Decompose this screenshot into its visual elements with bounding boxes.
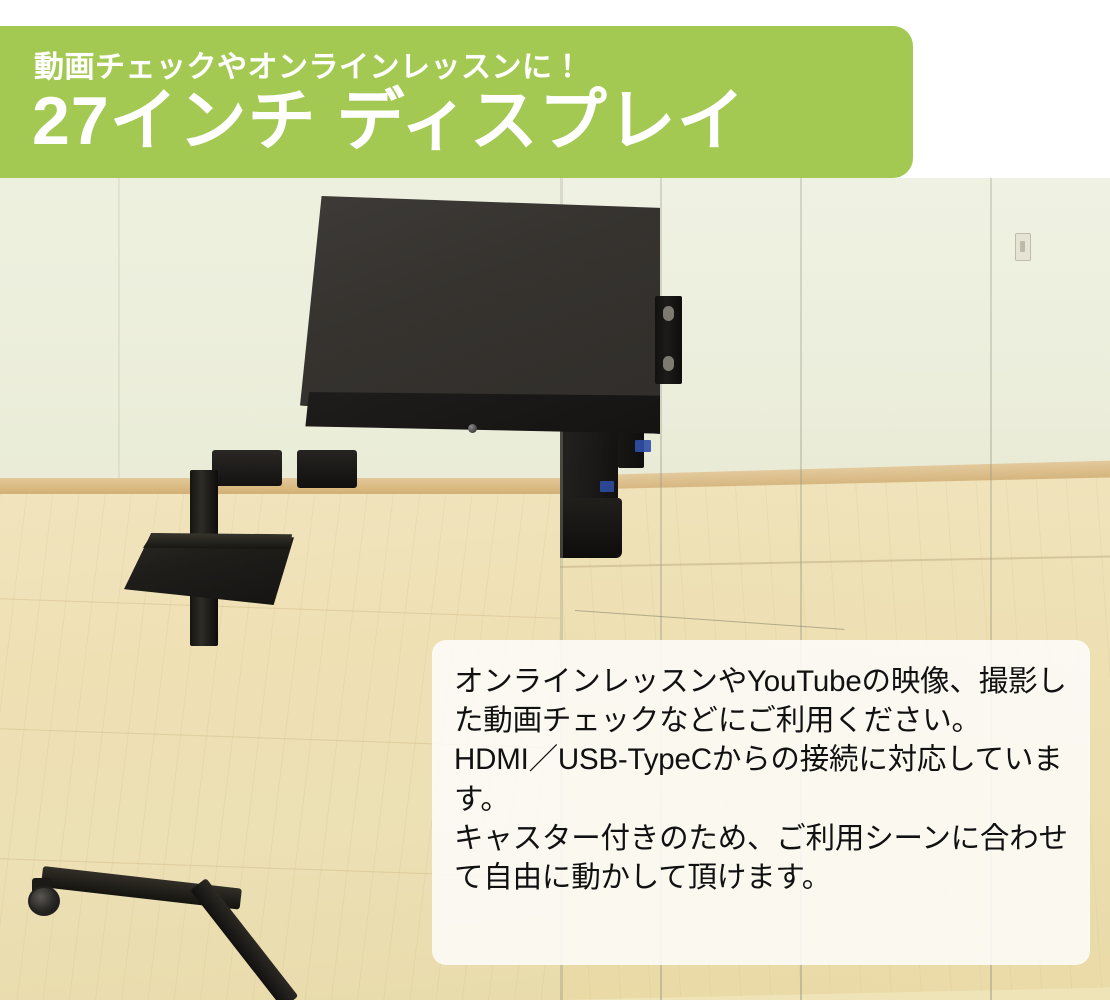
promo-image-root: 動画チェックやオンラインレッスンに！ 27インチ ディスプレイ オンラインレッス…	[0, 0, 1110, 1000]
vesa-mount-plate	[655, 296, 682, 384]
header-banner: 動画チェックやオンラインレッスンに！ 27インチ ディスプレイ	[0, 26, 913, 178]
banner-title: 27インチ ディスプレイ	[32, 87, 913, 156]
description-text: オンラインレッスンやYouTubeの映像、撮影した動画チェックなどにご利用くださ…	[454, 662, 1070, 897]
monitor-bottom-bezel	[300, 392, 660, 444]
reflected-brand-badge	[600, 481, 614, 492]
monitor-display	[300, 196, 660, 464]
vesa-slot	[663, 306, 674, 321]
caster-wheel	[28, 878, 56, 910]
stand-mount-block-left	[212, 450, 282, 486]
reflected-monitor-base	[560, 498, 622, 558]
wall-seam	[118, 178, 120, 492]
brand-badge	[635, 440, 651, 452]
vesa-slot	[663, 356, 674, 371]
wall-outlet	[1015, 233, 1031, 261]
stand-shelf-edge	[130, 533, 292, 549]
caster-wheel-disc	[28, 886, 60, 916]
power-button-icon	[468, 424, 477, 433]
description-card: オンラインレッスンやYouTubeの映像、撮影した動画チェックなどにご利用くださ…	[432, 640, 1090, 965]
banner-subtitle: 動画チェックやオンラインレッスンに！	[34, 53, 913, 83]
